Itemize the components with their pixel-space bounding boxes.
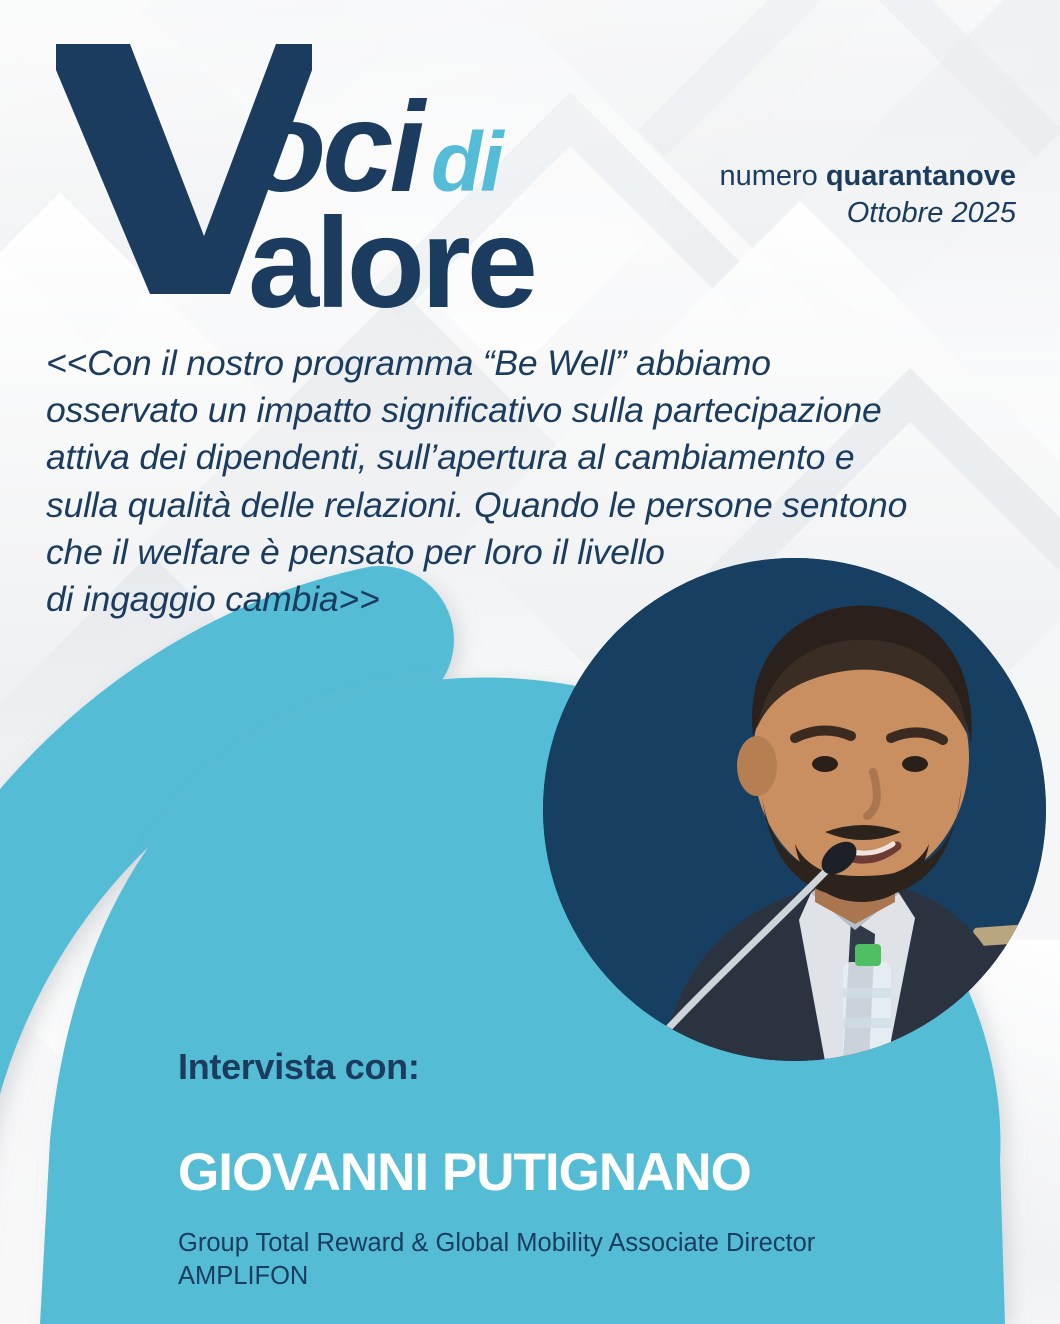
guest-role: Group Total Reward & Global Mobility Ass… [178,1227,998,1292]
logo-line-two: alore [248,200,534,328]
guest-photo [543,558,1046,1061]
guest-photo-illustration [543,558,1046,1061]
pull-quote: <<Con il nostro programma “Be Well” abbi… [46,340,1036,623]
newsletter-cover: ocidi alore numero quarantanove Ottobre … [0,0,1060,1324]
issue-info: numero quarantanove Ottobre 2025 [719,158,1016,232]
issue-number-word: quarantanove [826,160,1016,192]
guest-name: GIOVANNI PUTIGNANO [178,1142,998,1203]
issue-date: Ottobre 2025 [719,195,1016,232]
interview-credits: Intervista con: GIOVANNI PUTIGNANO Group… [178,1046,998,1292]
issue-number-line: numero quarantanove [719,158,1016,195]
issue-number-label: numero [719,160,825,192]
logo: ocidi alore [52,40,672,310]
interview-intro-label: Intervista con: [178,1046,998,1088]
